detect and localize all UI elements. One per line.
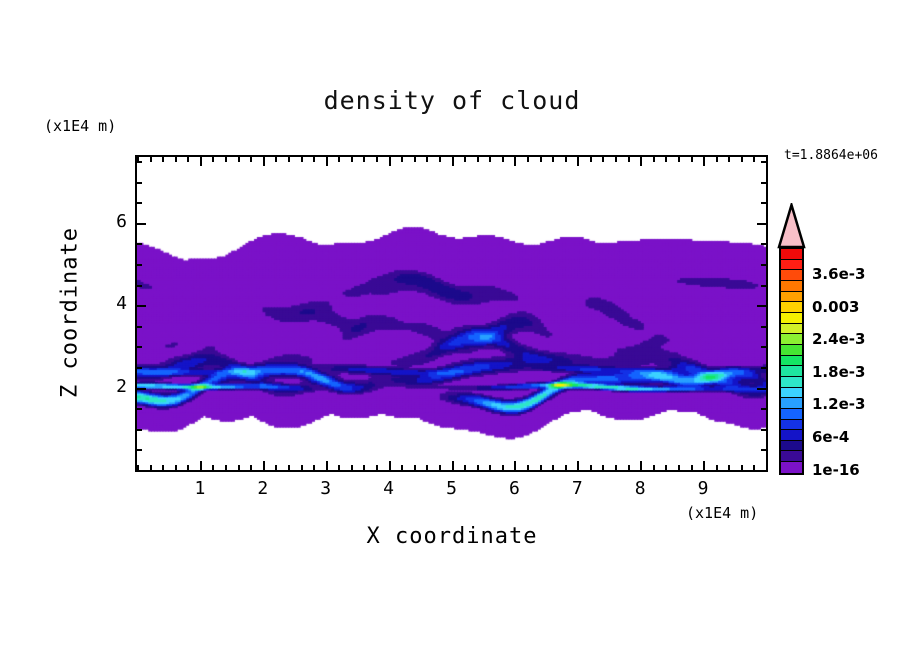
y-tick-label: 6 bbox=[103, 211, 127, 232]
colorbar-tick-label: 1e-16 bbox=[812, 461, 860, 479]
x-minor-tick bbox=[301, 465, 303, 470]
colorbar-band bbox=[781, 377, 802, 388]
x-tick-label: 8 bbox=[628, 478, 652, 499]
y-minor-tick bbox=[137, 429, 142, 431]
y-minor-tick bbox=[137, 182, 142, 184]
colorbar-band bbox=[781, 281, 802, 292]
x-minor-tick-top bbox=[653, 157, 655, 162]
time-annotation: t=1.8864e+06 bbox=[784, 148, 878, 163]
x-minor-tick-top bbox=[363, 157, 365, 162]
page-title: density of cloud bbox=[0, 86, 904, 115]
x-axis-title: X coordinate bbox=[237, 524, 667, 549]
x-minor-tick-top bbox=[741, 157, 743, 162]
x-minor-tick bbox=[175, 465, 177, 470]
colorbar-tick-label: 3.6e-3 bbox=[812, 265, 865, 283]
x-major-tick-top bbox=[389, 157, 391, 166]
x-minor-tick bbox=[728, 465, 730, 470]
colorbar-band bbox=[781, 398, 802, 409]
x-minor-tick bbox=[150, 465, 152, 470]
x-minor-tick-top bbox=[187, 157, 189, 162]
colorbar-tick-label: 2.4e-3 bbox=[812, 330, 865, 348]
y-minor-tick bbox=[137, 346, 142, 348]
colorbar-band bbox=[781, 356, 802, 367]
x-minor-tick-top bbox=[615, 157, 617, 162]
colorbar-band bbox=[781, 451, 802, 462]
colorbar-band bbox=[781, 249, 802, 260]
x-minor-tick-top bbox=[275, 157, 277, 162]
x-minor-tick-top bbox=[175, 157, 177, 162]
colorbar-band bbox=[781, 302, 802, 313]
y-minor-tick bbox=[137, 264, 142, 266]
x-tick-label: 9 bbox=[691, 478, 715, 499]
x-minor-tick bbox=[351, 465, 353, 470]
x-major-tick-top bbox=[263, 157, 265, 166]
contour-plot bbox=[137, 157, 766, 470]
x-minor-tick bbox=[212, 465, 214, 470]
x-tick-label: 1 bbox=[188, 478, 212, 499]
y-minor-tick-right bbox=[761, 449, 766, 451]
colorbar-tick-label: 6e-4 bbox=[812, 428, 849, 446]
y-minor-tick-right bbox=[761, 161, 766, 163]
y-minor-tick bbox=[137, 326, 142, 328]
y-axis-title: Z coordinate bbox=[58, 213, 83, 413]
y-minor-tick-right bbox=[761, 264, 766, 266]
x-minor-tick-top bbox=[602, 157, 604, 162]
x-major-tick bbox=[514, 461, 516, 470]
y-minor-tick-right bbox=[761, 182, 766, 184]
x-minor-tick-top bbox=[162, 157, 164, 162]
x-minor-tick bbox=[678, 465, 680, 470]
colorbar bbox=[779, 247, 804, 475]
y-major-tick-right bbox=[757, 305, 766, 307]
colorbar-band bbox=[781, 366, 802, 377]
x-minor-tick bbox=[665, 465, 667, 470]
x-minor-tick bbox=[225, 465, 227, 470]
x-minor-tick bbox=[590, 465, 592, 470]
x-minor-tick bbox=[477, 465, 479, 470]
x-minor-tick-top bbox=[439, 157, 441, 162]
x-minor-tick bbox=[527, 465, 529, 470]
x-minor-tick-top bbox=[728, 157, 730, 162]
x-major-tick bbox=[389, 461, 391, 470]
colorbar-band bbox=[781, 292, 802, 303]
x-minor-tick-top bbox=[238, 157, 240, 162]
colorbar-tick-label: 1.8e-3 bbox=[812, 363, 865, 381]
x-minor-tick bbox=[766, 465, 768, 470]
colorbar-band bbox=[781, 345, 802, 356]
x-minor-tick bbox=[615, 465, 617, 470]
x-minor-tick-top bbox=[565, 157, 567, 162]
x-minor-tick-top bbox=[477, 157, 479, 162]
x-minor-tick-top bbox=[527, 157, 529, 162]
y-minor-tick bbox=[137, 285, 142, 287]
y-minor-tick-right bbox=[761, 202, 766, 204]
x-tick-label: 5 bbox=[440, 478, 464, 499]
x-minor-tick-top bbox=[691, 157, 693, 162]
y-minor-tick-right bbox=[761, 243, 766, 245]
x-minor-tick-top bbox=[212, 157, 214, 162]
colorbar-band bbox=[781, 388, 802, 399]
x-axis-units-label: (x1E4 m) bbox=[686, 504, 758, 522]
x-major-tick-top bbox=[514, 157, 516, 166]
y-major-tick bbox=[137, 388, 146, 390]
x-minor-tick bbox=[741, 465, 743, 470]
x-tick-label: 3 bbox=[314, 478, 338, 499]
x-minor-tick-top bbox=[590, 157, 592, 162]
x-minor-tick-top bbox=[766, 157, 768, 162]
x-tick-label: 7 bbox=[565, 478, 589, 499]
x-minor-tick bbox=[401, 465, 403, 470]
x-minor-tick bbox=[565, 465, 567, 470]
x-minor-tick-top bbox=[464, 157, 466, 162]
y-minor-tick bbox=[137, 449, 142, 451]
x-minor-tick bbox=[540, 465, 542, 470]
x-major-tick-top bbox=[577, 157, 579, 166]
y-minor-tick-right bbox=[761, 285, 766, 287]
colorbar-band bbox=[781, 334, 802, 345]
colorbar-band bbox=[781, 270, 802, 281]
x-minor-tick-top bbox=[351, 157, 353, 162]
y-minor-tick bbox=[137, 367, 142, 369]
colorbar-band bbox=[781, 441, 802, 452]
x-minor-tick bbox=[414, 465, 416, 470]
x-minor-tick-top bbox=[426, 157, 428, 162]
x-tick-label: 2 bbox=[251, 478, 275, 499]
figure-canvas: density of cloud (x1E4 m) t=1.8864e+06 1… bbox=[0, 0, 904, 654]
x-minor-tick bbox=[653, 465, 655, 470]
y-major-tick-right bbox=[757, 388, 766, 390]
x-minor-tick-top bbox=[288, 157, 290, 162]
x-tick-label: 4 bbox=[377, 478, 401, 499]
x-major-tick-top bbox=[640, 157, 642, 166]
x-minor-tick bbox=[439, 465, 441, 470]
x-major-tick-top bbox=[703, 157, 705, 166]
x-minor-tick-top bbox=[401, 157, 403, 162]
x-minor-tick bbox=[426, 465, 428, 470]
colorbar-band bbox=[781, 409, 802, 420]
x-minor-tick-top bbox=[489, 157, 491, 162]
x-minor-tick bbox=[753, 465, 755, 470]
y-minor-tick-right bbox=[761, 429, 766, 431]
x-minor-tick-top bbox=[150, 157, 152, 162]
colorbar-extend-arrow-icon bbox=[777, 203, 806, 249]
x-minor-tick bbox=[502, 465, 504, 470]
x-minor-tick bbox=[275, 465, 277, 470]
colorbar-band bbox=[781, 313, 802, 324]
x-minor-tick bbox=[363, 465, 365, 470]
x-minor-tick-top bbox=[502, 157, 504, 162]
x-minor-tick bbox=[691, 465, 693, 470]
x-major-tick bbox=[452, 461, 454, 470]
x-minor-tick bbox=[376, 465, 378, 470]
x-minor-tick bbox=[288, 465, 290, 470]
x-major-tick bbox=[200, 461, 202, 470]
x-minor-tick-top bbox=[628, 157, 630, 162]
x-minor-tick bbox=[464, 465, 466, 470]
x-major-tick bbox=[577, 461, 579, 470]
y-minor-tick bbox=[137, 470, 142, 472]
x-major-tick-top bbox=[452, 157, 454, 166]
x-tick-label: 6 bbox=[502, 478, 526, 499]
x-major-tick bbox=[703, 461, 705, 470]
x-minor-tick bbox=[602, 465, 604, 470]
y-minor-tick bbox=[137, 161, 142, 163]
x-minor-tick bbox=[187, 465, 189, 470]
x-major-tick-top bbox=[200, 157, 202, 166]
x-minor-tick bbox=[552, 465, 554, 470]
y-axis-units-label: (x1E4 m) bbox=[44, 117, 116, 135]
x-minor-tick-top bbox=[665, 157, 667, 162]
colorbar-band bbox=[781, 420, 802, 431]
x-minor-tick-top bbox=[313, 157, 315, 162]
x-minor-tick-top bbox=[753, 157, 755, 162]
x-minor-tick bbox=[716, 465, 718, 470]
x-major-tick bbox=[326, 461, 328, 470]
colorbar-band bbox=[781, 462, 802, 473]
y-major-tick-right bbox=[757, 223, 766, 225]
y-major-tick bbox=[137, 305, 146, 307]
x-minor-tick bbox=[628, 465, 630, 470]
x-minor-tick-top bbox=[250, 157, 252, 162]
colorbar-band bbox=[781, 260, 802, 271]
colorbar-tick-label: 1.2e-3 bbox=[812, 395, 865, 413]
y-tick-label: 2 bbox=[103, 376, 127, 397]
x-minor-tick-top bbox=[338, 157, 340, 162]
y-minor-tick-right bbox=[761, 408, 766, 410]
y-minor-tick-right bbox=[761, 367, 766, 369]
x-minor-tick-top bbox=[376, 157, 378, 162]
x-minor-tick-top bbox=[678, 157, 680, 162]
x-major-tick bbox=[263, 461, 265, 470]
y-minor-tick bbox=[137, 243, 142, 245]
plot-area bbox=[135, 155, 768, 472]
x-minor-tick-top bbox=[414, 157, 416, 162]
x-minor-tick-top bbox=[225, 157, 227, 162]
y-minor-tick bbox=[137, 408, 142, 410]
x-minor-tick bbox=[238, 465, 240, 470]
x-minor-tick bbox=[338, 465, 340, 470]
colorbar-band bbox=[781, 324, 802, 335]
x-minor-tick bbox=[489, 465, 491, 470]
x-minor-tick bbox=[313, 465, 315, 470]
x-minor-tick bbox=[162, 465, 164, 470]
x-minor-tick-top bbox=[552, 157, 554, 162]
x-major-tick bbox=[640, 461, 642, 470]
x-minor-tick-top bbox=[301, 157, 303, 162]
x-major-tick-top bbox=[326, 157, 328, 166]
colorbar-tick-label: 0.003 bbox=[812, 298, 859, 316]
y-major-tick bbox=[137, 223, 146, 225]
y-tick-label: 4 bbox=[103, 293, 127, 314]
y-minor-tick-right bbox=[761, 346, 766, 348]
y-minor-tick bbox=[137, 202, 142, 204]
y-minor-tick-right bbox=[761, 326, 766, 328]
x-minor-tick-top bbox=[540, 157, 542, 162]
x-minor-tick-top bbox=[716, 157, 718, 162]
y-minor-tick-right bbox=[761, 470, 766, 472]
colorbar-band bbox=[781, 430, 802, 441]
x-minor-tick bbox=[250, 465, 252, 470]
